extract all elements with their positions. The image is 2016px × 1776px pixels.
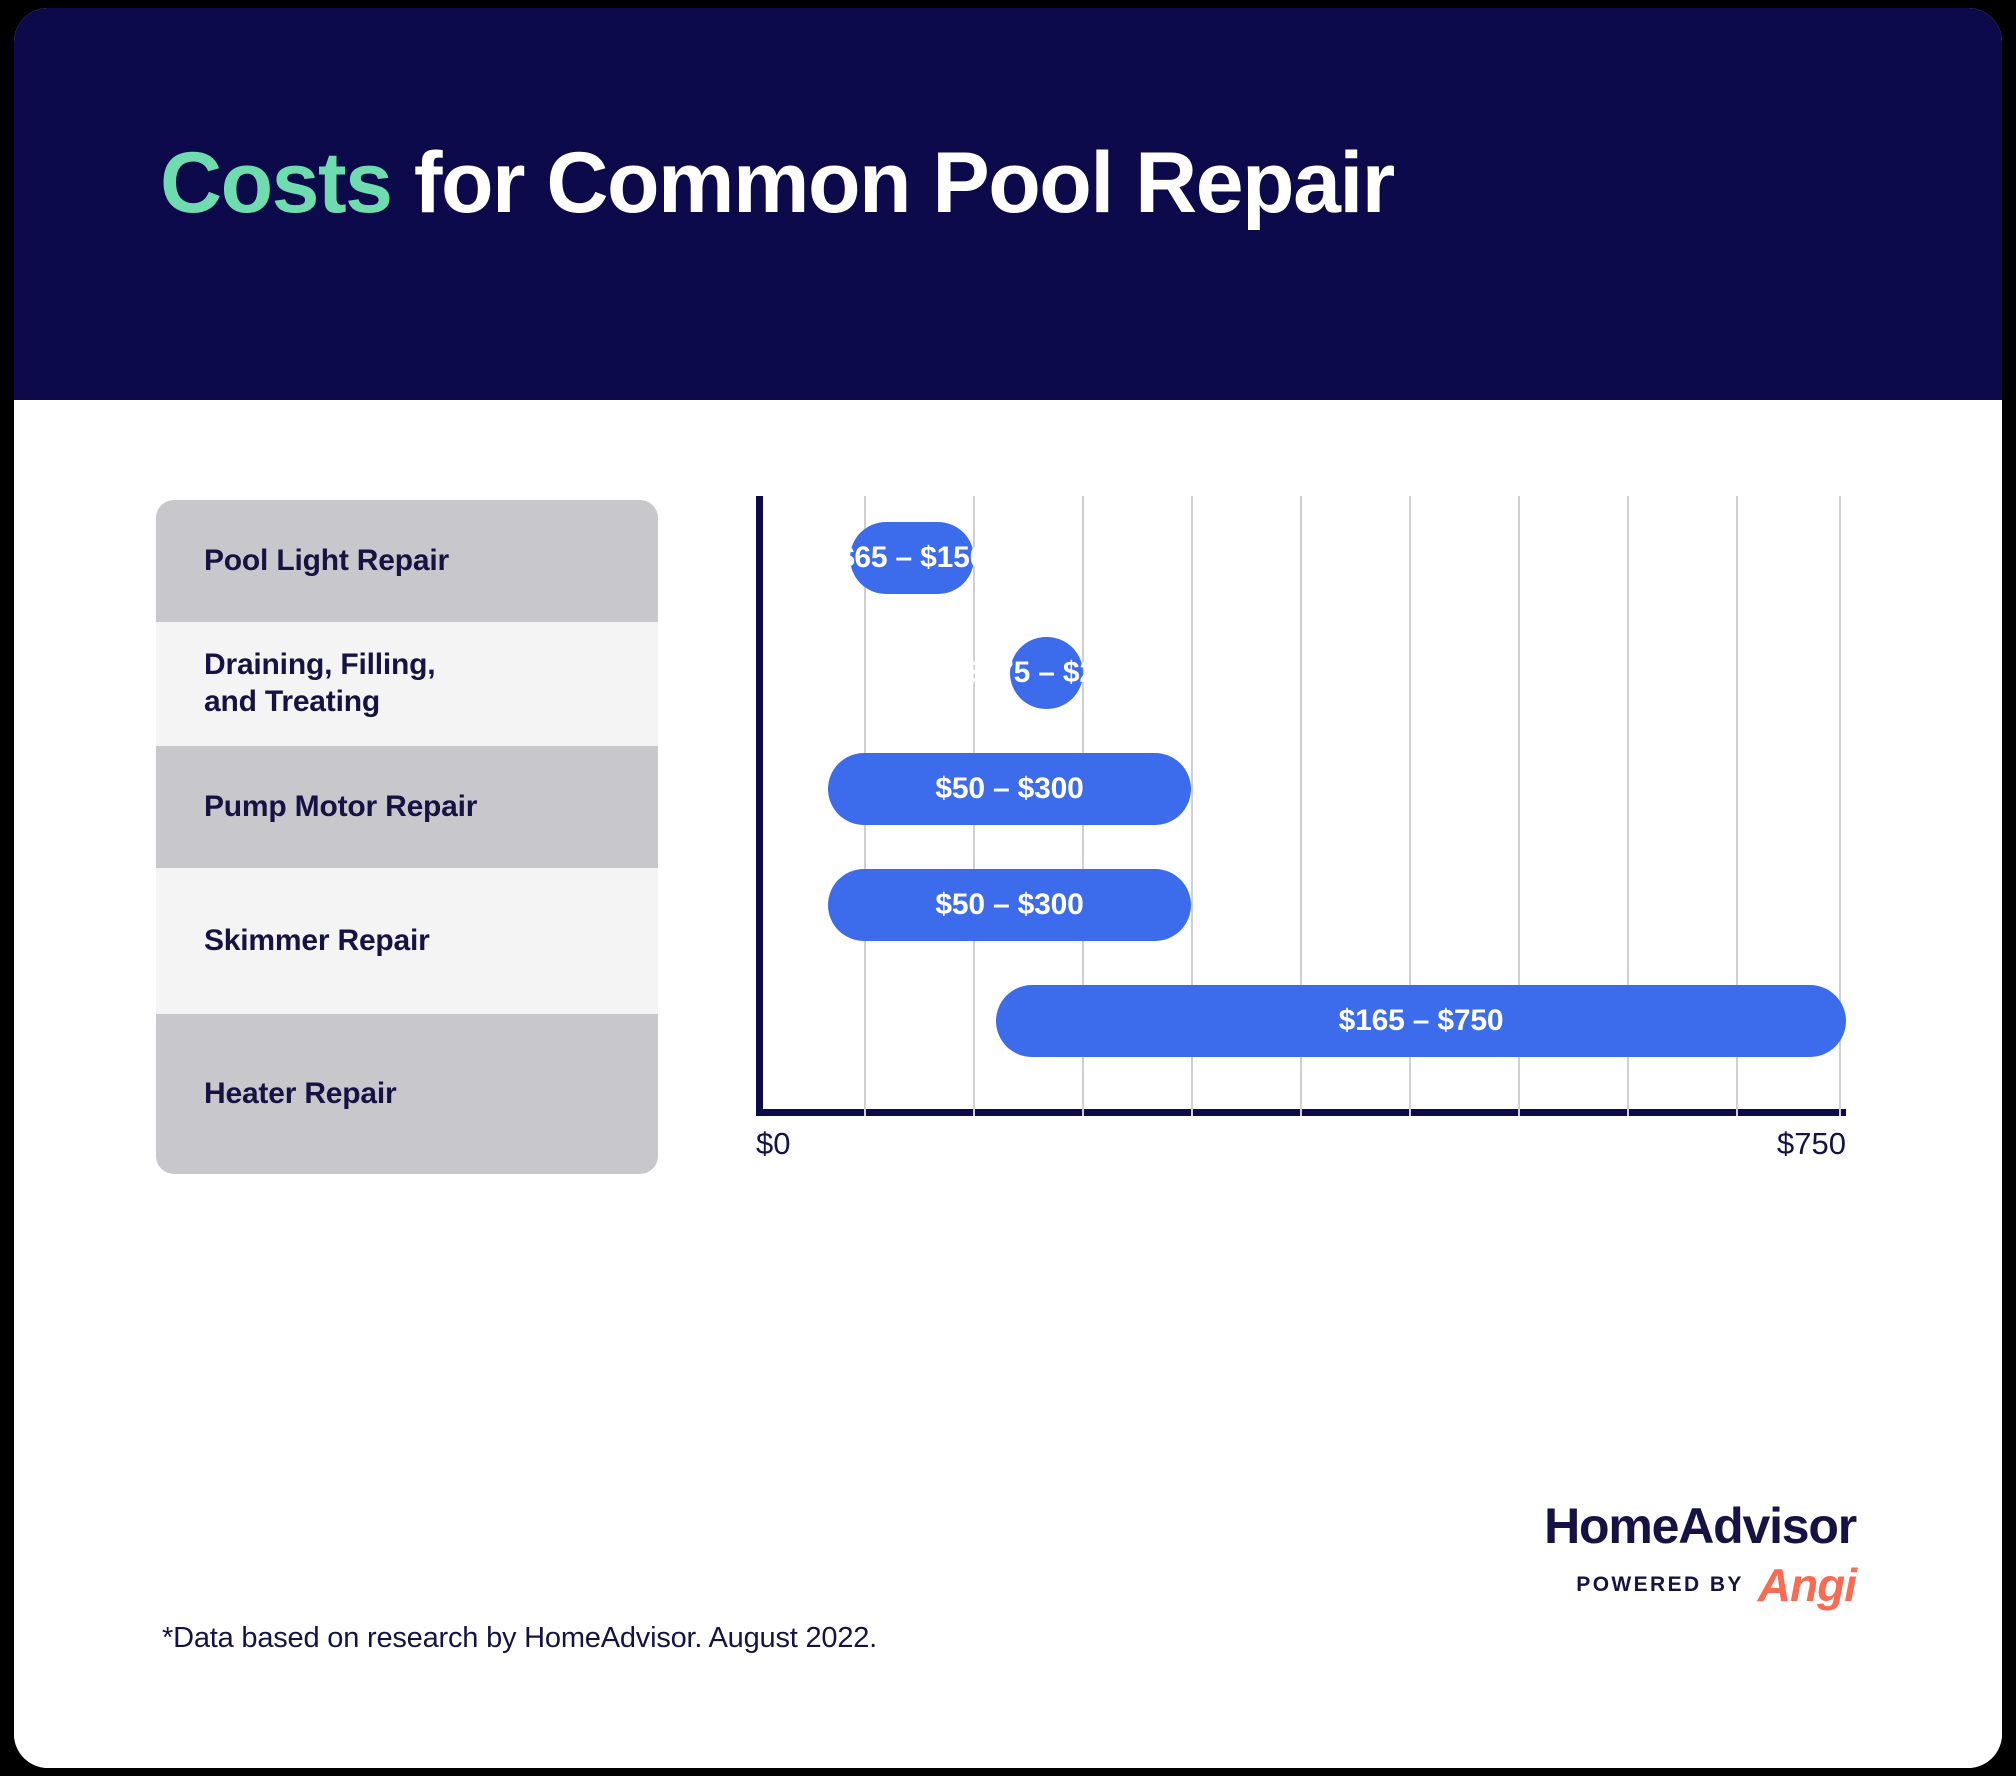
- bar-value-label: $175 – $225: [964, 656, 1129, 690]
- page-title: Costs for Common Pool Repair: [160, 140, 1394, 226]
- y-axis-line: [756, 496, 763, 1116]
- bar-pump-motor-repair[interactable]: $50 – $300: [828, 753, 1191, 825]
- title-accent-word: Costs: [160, 135, 391, 231]
- header-banner: Costs for Common Pool Repair: [14, 8, 2002, 400]
- source-footnote: *Data based on research by HomeAdvisor. …: [162, 1622, 877, 1655]
- bar-pool-light-repair[interactable]: $65 – $150: [850, 522, 974, 594]
- bar-skimmer-repair[interactable]: $50 – $300: [828, 869, 1191, 941]
- bar-draining-filling-and-treating[interactable]: $175 – $225: [1010, 637, 1083, 709]
- legend-label: Draining, Filling, and Treating: [204, 647, 435, 720]
- infographic-card: Costs for Common Pool Repair Pool Light …: [14, 8, 2002, 1768]
- legend-row-heater-repair[interactable]: Heater Repair: [156, 1014, 658, 1174]
- title-rest: for Common Pool Repair: [391, 135, 1393, 231]
- legend-row-skimmer-repair[interactable]: Skimmer Repair: [156, 868, 658, 1014]
- plot-area: $65 – $150 $175 – $225 $50 – $300 $50 – …: [756, 496, 1846, 1116]
- legend-label: Pool Light Repair: [204, 543, 449, 580]
- x-axis-tick-max: $750: [1777, 1126, 1846, 1162]
- logo-powered-by-text: POWERED BY: [1576, 1573, 1744, 1597]
- category-legend-table: Pool Light Repair Draining, Filling, and…: [156, 500, 658, 1174]
- brand-logo: HomeAdvisor POWERED BY Angi: [1526, 1500, 1856, 1606]
- bar-value-label: $65 – $150: [838, 541, 986, 575]
- x-axis-tick-min: $0: [756, 1126, 790, 1162]
- logo-powered-by-row: POWERED BY Angi: [1526, 1565, 1856, 1606]
- legend-row-pool-light-repair[interactable]: Pool Light Repair: [156, 500, 658, 622]
- bar-value-label: $50 – $300: [935, 888, 1083, 922]
- bar-value-label: $165 – $750: [1339, 1004, 1504, 1038]
- legend-row-pump-motor-repair[interactable]: Pump Motor Repair: [156, 746, 658, 868]
- legend-label: Skimmer Repair: [204, 923, 430, 960]
- legend-label: Heater Repair: [204, 1076, 397, 1113]
- angi-wordmark: Angi: [1758, 1565, 1856, 1606]
- bar-heater-repair[interactable]: $165 – $750: [996, 985, 1846, 1057]
- logo-wordmark: HomeAdvisor: [1526, 1500, 1856, 1553]
- chart-body: Pool Light Repair Draining, Filling, and…: [14, 400, 2002, 1768]
- bar-value-label: $50 – $300: [935, 772, 1083, 806]
- legend-row-draining-filling-and-treating[interactable]: Draining, Filling, and Treating: [156, 622, 658, 746]
- legend-label: Pump Motor Repair: [204, 789, 477, 826]
- bar-chart: $65 – $150 $175 – $225 $50 – $300 $50 – …: [756, 496, 1846, 1076]
